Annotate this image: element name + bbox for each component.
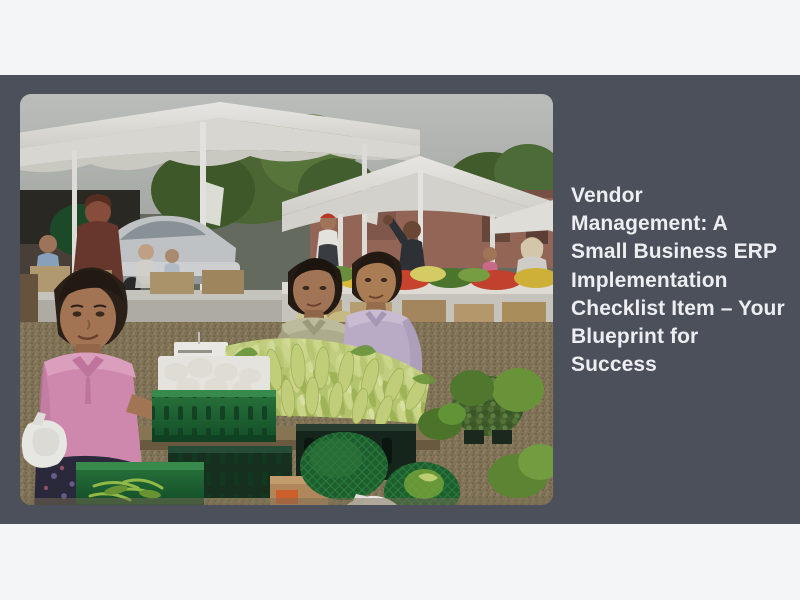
hero-image-card: [20, 94, 553, 505]
farmers-market-photo: [20, 94, 553, 505]
article-headline: Vendor Management: A Small Business ERP …: [571, 182, 785, 379]
